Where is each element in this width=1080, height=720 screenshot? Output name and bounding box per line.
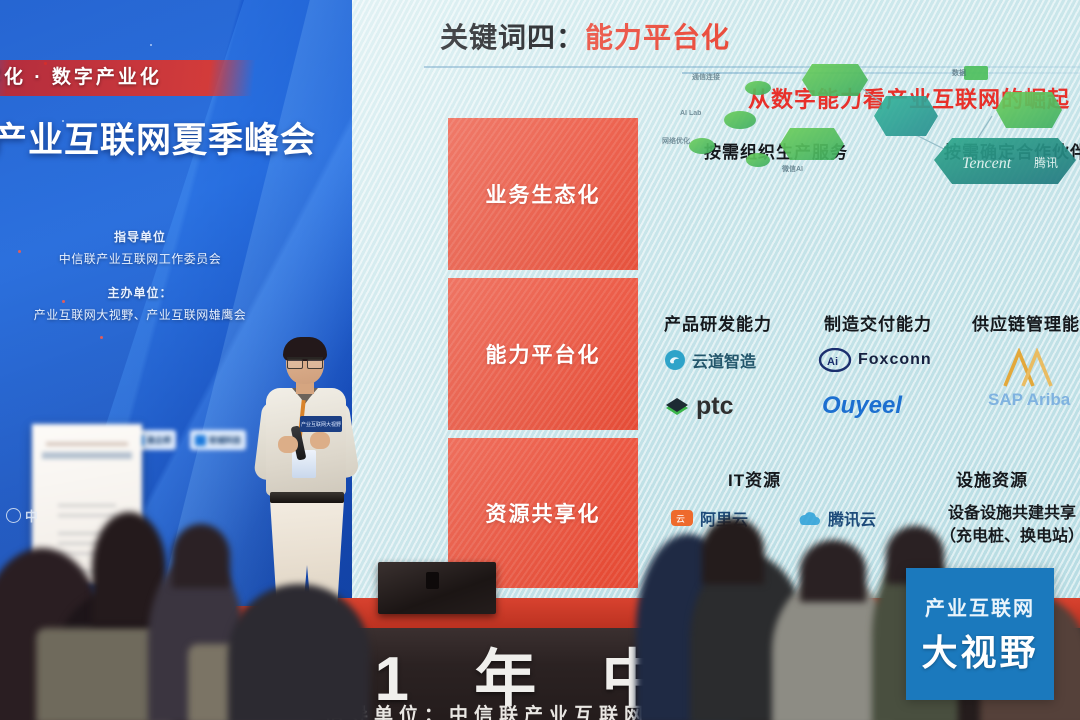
logo-yundao-label: 云道智造 <box>692 348 756 372</box>
speaker-right-hand <box>310 432 330 449</box>
banner-host-org: 产业互联网大视野、产业互联网雄鹰会 <box>0 306 280 323</box>
tencent-ecosystem-graphic: Tencent 腾讯 通信连接 AI Lab 网络优化 微信AI 数据 <box>662 48 1080 188</box>
ecosystem-hexagon-svg: Tencent 腾讯 <box>662 48 1080 188</box>
svg-text:云: 云 <box>676 514 685 524</box>
glasses-icon <box>287 357 323 367</box>
microphone-flag-label: 产业互联网大视野 <box>301 421 341 428</box>
logo-foxconn: Ai Foxconn <box>818 348 932 372</box>
pillar-label: 资源共享化 <box>486 498 601 528</box>
ptc-cube-icon <box>664 396 690 418</box>
audience-head <box>228 584 370 720</box>
corner-watermark: 中 <box>6 506 38 525</box>
eco-node-label: 通信连接 <box>692 72 720 82</box>
banner-title: 国产业互联网夏季峰会 <box>0 112 352 163</box>
eco-node-label: 数据 <box>952 68 966 78</box>
conference-photo-scene: 数字化 · 数字产业化 国产业互联网夏季峰会 指导单位 中信联产业互联网工作委员… <box>0 0 1080 720</box>
pillar-label: 业务生态化 <box>486 179 601 209</box>
banner-kicker-ribbon: 数字化 · 数字产业化 <box>0 60 256 96</box>
watermark-logo: 产业互联网 大视野 <box>906 568 1054 700</box>
watermark-line-1: 产业互联网 <box>925 592 1035 621</box>
pillar-label: 能力平台化 <box>486 339 601 369</box>
sponsor-logo-icon <box>195 435 206 446</box>
logo-yundao: 云道智造 <box>664 348 756 372</box>
decor-dot <box>150 44 152 46</box>
eco-node-label: AI Lab <box>680 110 701 117</box>
pillar-block-group: 业务生态化 能力平台化 资源共享化 <box>448 118 638 596</box>
corner-watermark-text: 中 <box>25 506 38 525</box>
ariba-arch-icon <box>999 348 1059 388</box>
booklet-line-1 <box>46 442 128 446</box>
pillar-block: 能力平台化 <box>448 278 638 430</box>
logo-foxconn-label: Foxconn <box>858 351 932 369</box>
booklet-text-block <box>58 514 116 517</box>
audience-head <box>172 524 230 588</box>
row2-heading-1: 产品研发能力 <box>664 310 772 335</box>
logo-tencent-cloud: 腾讯云 <box>796 506 876 530</box>
speaker-left-hand <box>278 436 298 453</box>
row2-heading-3: 供应链管理能力 <box>972 310 1080 335</box>
row3-heading-1: IT资源 <box>728 466 781 491</box>
eco-node-label: 网络优化 <box>662 136 690 146</box>
logo-ptc: ptc <box>664 392 734 421</box>
logo-sap-ariba: SAP Ariba <box>988 348 1070 410</box>
audience-head <box>702 518 764 584</box>
booklet-line-2 <box>42 452 132 459</box>
fii-circle-icon: Ai <box>818 348 852 372</box>
tencent-cloud-icon <box>796 508 822 528</box>
decor-dot <box>100 336 103 339</box>
sponsor-chip-label: 软城科技 <box>209 435 241 446</box>
svg-text:腾讯: 腾讯 <box>1034 155 1058 170</box>
row2-heading-2: 制造交付能力 <box>824 310 932 335</box>
banner-kicker-text: 数字化 · 数字产业化 <box>0 60 254 96</box>
logo-ptc-label: ptc <box>696 392 734 421</box>
banner-guide-label: 指导单位 <box>0 228 280 245</box>
booklet-text-block <box>58 504 116 507</box>
stage-front-small-text: 指导单位：中信联产业互联网 <box>324 700 649 720</box>
facility-line-1: 设备设施共建共享 <box>882 502 1080 525</box>
speaker-belt <box>270 492 344 503</box>
logo-tencent-cloud-label: 腾讯云 <box>828 506 876 530</box>
watermark-line-2: 大视野 <box>921 624 1038 676</box>
banner-guide-org: 中信联产业互联网工作委员会 <box>0 250 280 267</box>
sponsor-chip: 软城科技 <box>190 430 246 450</box>
svg-text:Tencent: Tencent <box>962 155 1012 172</box>
svg-text:Ai: Ai <box>827 356 838 368</box>
sponsor-chip-label: 商企邦 <box>147 435 171 446</box>
eco-node-label: 微信AI <box>782 164 803 174</box>
slide-title-prefix: 关键词四： <box>440 22 585 53</box>
banner-host-label: 主办单位： <box>0 284 280 301</box>
logo-sap-ariba-label: SAP Ariba <box>988 390 1070 410</box>
aliyun-cloud-icon: 云 <box>670 508 694 528</box>
stage-floor-monitor <box>378 562 496 614</box>
microphone-flag: 产业互联网大视野 <box>300 416 342 432</box>
audience-head <box>800 540 866 602</box>
pillar-block: 业务生态化 <box>448 118 638 270</box>
yundao-swirl-icon <box>664 349 686 371</box>
logo-ouyeel: Ouyeel <box>822 392 902 420</box>
row3-heading-2: 设施资源 <box>956 466 1028 491</box>
corner-watermark-icon <box>6 508 21 523</box>
logo-ouyeel-label: Ouyeel <box>822 392 902 420</box>
